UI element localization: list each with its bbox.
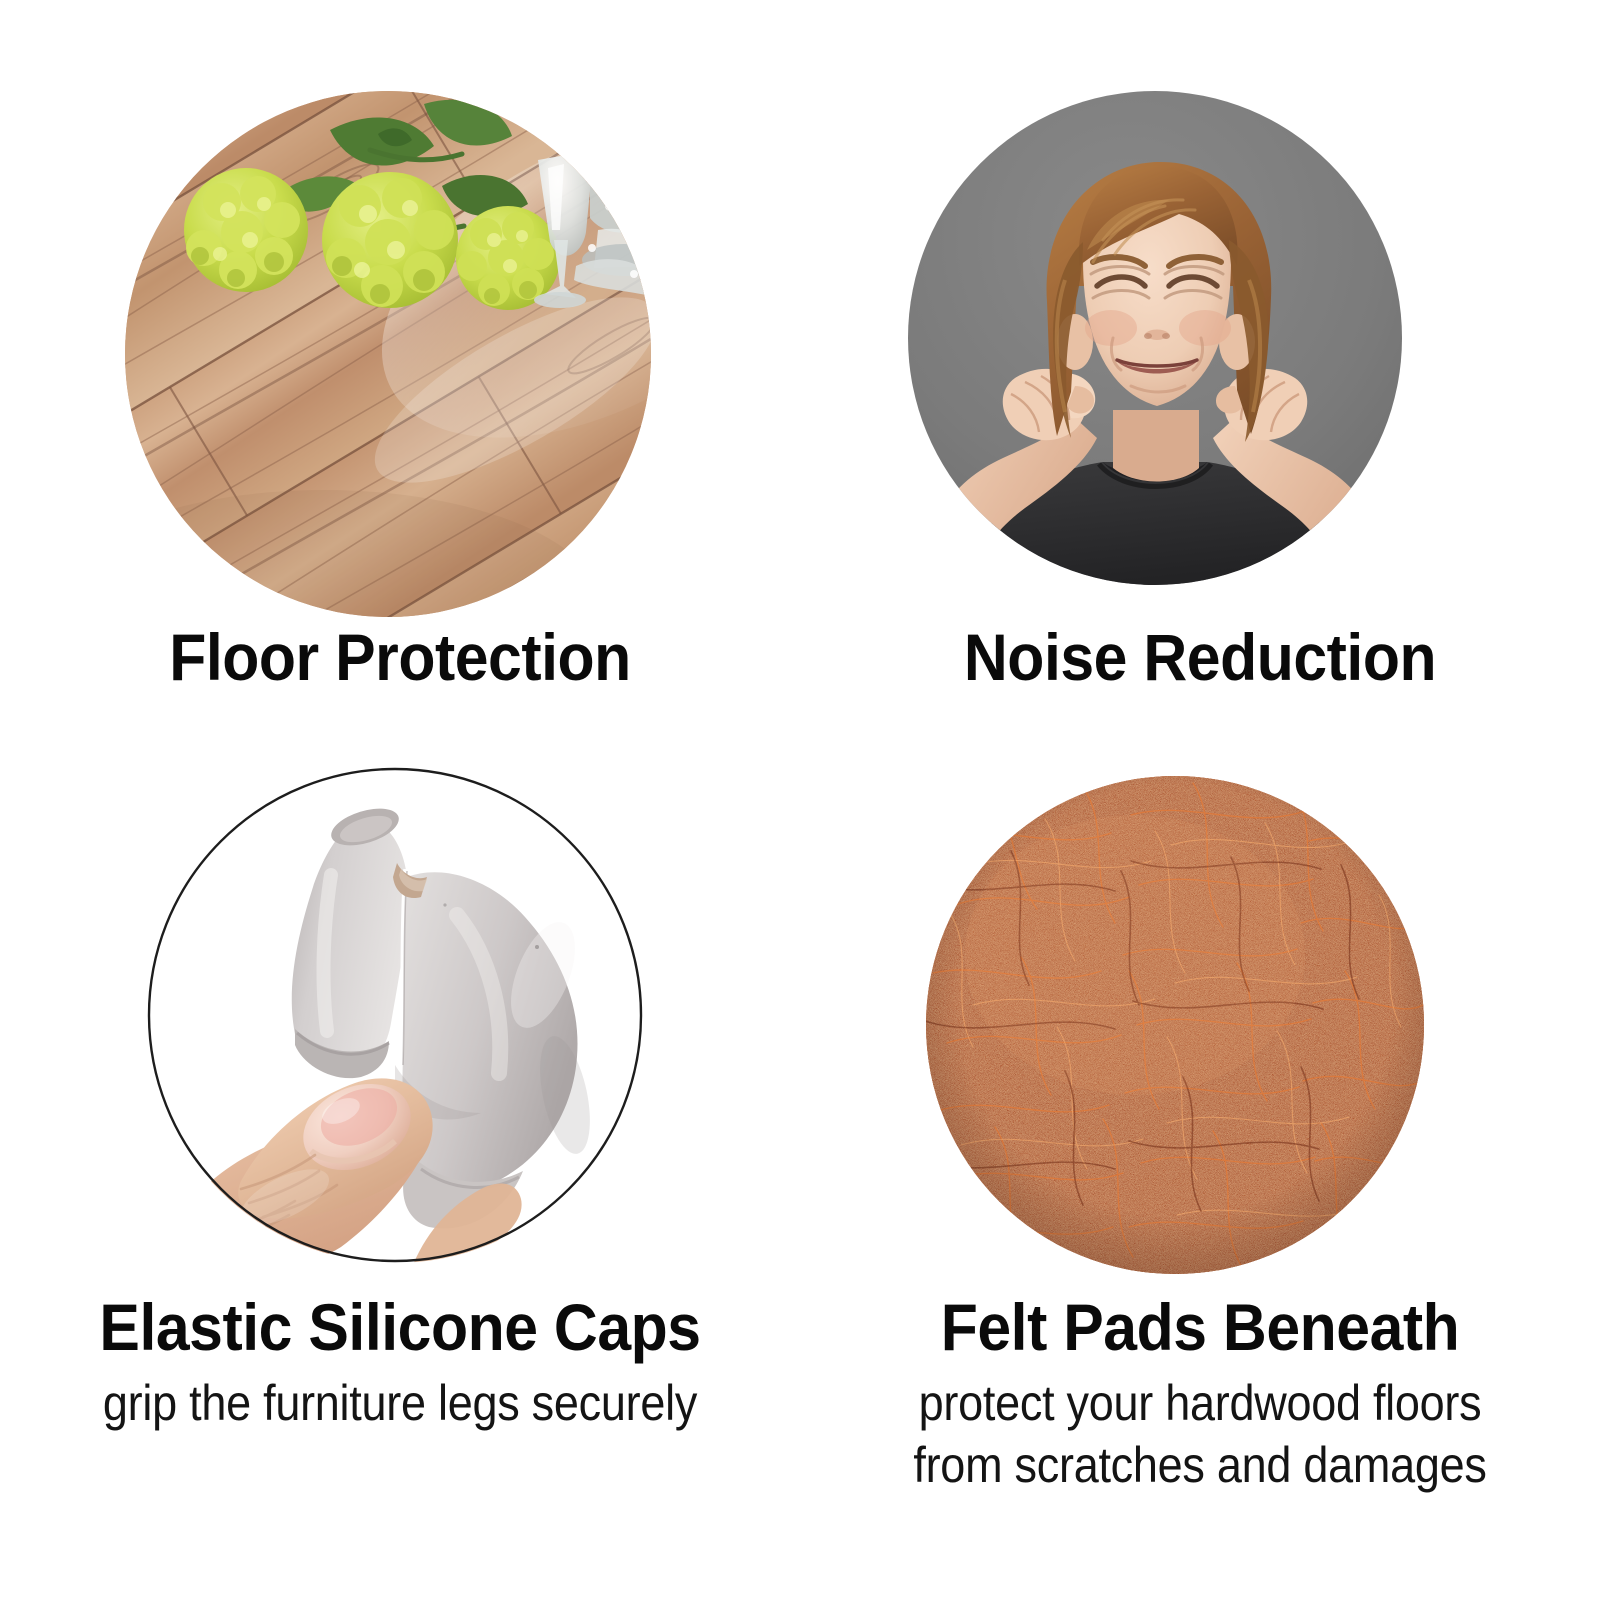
noise-reduction-media xyxy=(907,90,1403,586)
wood-floor-with-green-hydrangeas-photo xyxy=(124,90,652,618)
felt-pads-caption: Felt Pads Beneath protect your hardwood … xyxy=(800,1288,1600,1496)
feature-card-elastic-silicone-caps: Elastic Silicone Caps grip the furniture… xyxy=(0,800,800,1600)
feature-grid: Floor Protection xyxy=(0,0,1600,1600)
feature-title-floor-protection: Floor Protection xyxy=(32,618,768,696)
elastic-silicone-caps-media xyxy=(145,765,645,1265)
feature-title-felt-pads-beneath: Felt Pads Beneath xyxy=(832,1288,1568,1366)
floor-protection-media xyxy=(124,90,652,618)
subtitle-line: from scratches and damages xyxy=(840,1434,1560,1496)
noise-reduction-caption: Noise Reduction xyxy=(800,618,1600,696)
feature-title-elastic-silicone-caps: Elastic Silicone Caps xyxy=(32,1288,768,1366)
feature-card-floor-protection: Floor Protection xyxy=(0,0,800,800)
feature-subtitle-felt-pads-beneath: protect your hardwood floors from scratc… xyxy=(840,1372,1560,1496)
hand-squeezing-silicone-chair-leg-cap-photo xyxy=(145,765,645,1265)
subtitle-line: protect your hardwood floors xyxy=(840,1372,1560,1434)
floor-protection-caption: Floor Protection xyxy=(0,618,800,696)
feature-title-noise-reduction: Noise Reduction xyxy=(832,618,1568,696)
felt-pads-media xyxy=(925,775,1425,1275)
feature-card-felt-pads-beneath: Felt Pads Beneath protect your hardwood … xyxy=(800,800,1600,1600)
feature-card-noise-reduction: Noise Reduction xyxy=(800,0,1600,800)
elastic-silicone-caps-caption: Elastic Silicone Caps grip the furniture… xyxy=(0,1288,800,1434)
orange-felt-fiber-texture-photo xyxy=(925,775,1425,1275)
feature-subtitle-elastic-silicone-caps: grip the furniture legs securely xyxy=(40,1372,760,1434)
child-covering-ears-photo xyxy=(907,90,1403,586)
subtitle-line: grip the furniture legs securely xyxy=(40,1372,760,1434)
